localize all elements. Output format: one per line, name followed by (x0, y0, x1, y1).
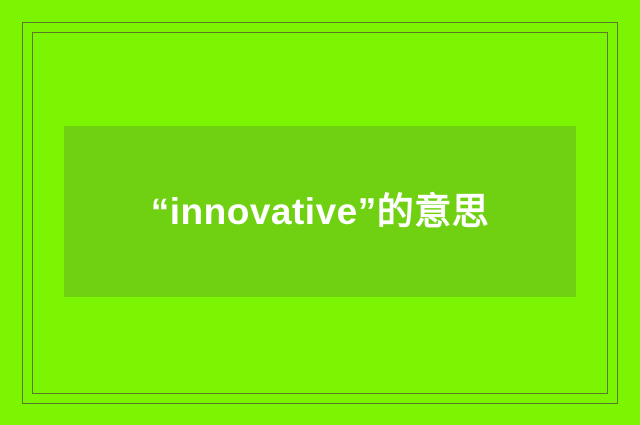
title-card: “innovative”的意思 (64, 126, 576, 297)
poster-canvas: “innovative”的意思 (0, 0, 640, 425)
page-title: “innovative”的意思 (151, 182, 490, 242)
